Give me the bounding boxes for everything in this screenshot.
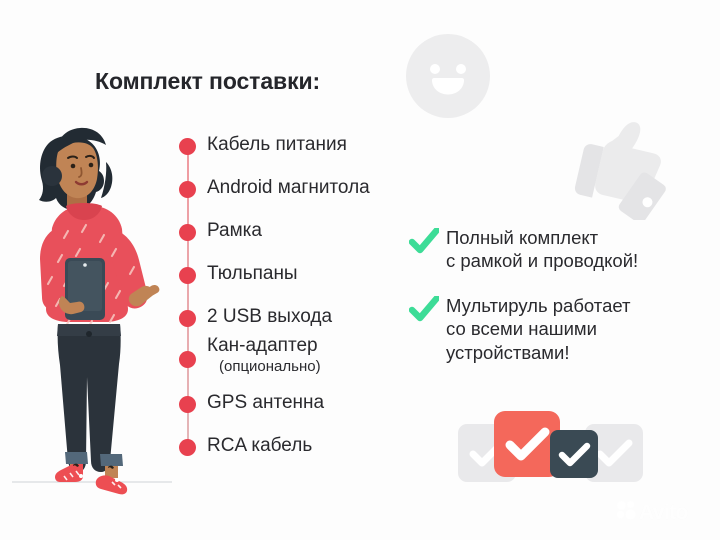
list-item-label: Кан-адаптер bbox=[207, 335, 318, 357]
checkbox-card-navy bbox=[550, 430, 598, 478]
thumbs-up-icon bbox=[572, 112, 676, 220]
green-check-icon bbox=[409, 228, 439, 256]
bullet-dot-icon bbox=[179, 138, 196, 155]
list-item-sublabel: (опционально) bbox=[219, 358, 321, 375]
benefit-text: Мультируль работает со всеми нашими устр… bbox=[446, 294, 631, 364]
list-item-label: Тюльпаны bbox=[207, 263, 298, 285]
avito-logo-icon bbox=[616, 500, 636, 525]
benefit-line-1: Мультируль работает bbox=[446, 295, 631, 316]
avito-watermark: Avito bbox=[616, 500, 688, 525]
list-item-label: RCA кабель bbox=[207, 435, 312, 457]
list-item-label: GPS антенна bbox=[207, 392, 324, 414]
benefit-text: Полный комплект с рамкой и проводкой! bbox=[446, 226, 638, 273]
woman-with-tablet-illustration bbox=[12, 110, 172, 510]
bullet-dot-icon bbox=[179, 267, 196, 284]
bullet-dot-icon bbox=[179, 181, 196, 198]
smiley-face-icon bbox=[404, 32, 492, 120]
list-item-label: Рамка bbox=[207, 220, 262, 242]
benefit-line-3: устройствами! bbox=[446, 342, 570, 363]
checkbox-card-cluster bbox=[458, 408, 643, 490]
list-item-label: 2 USB выхода bbox=[207, 306, 332, 328]
poster-canvas: Комплект поставки: Кабель питания Androi… bbox=[0, 0, 720, 540]
green-check-icon bbox=[409, 296, 439, 324]
list-item-label: Android магнитола bbox=[207, 177, 370, 199]
bullet-dot-icon bbox=[179, 224, 196, 241]
avito-wordmark: Avito bbox=[639, 501, 688, 525]
bullet-dot-icon bbox=[179, 396, 196, 413]
benefit-line-1: Полный комплект bbox=[446, 227, 598, 248]
list-item-label: Кабель питания bbox=[207, 134, 347, 156]
bullet-dot-icon bbox=[179, 351, 196, 368]
bullet-dot-icon bbox=[179, 310, 196, 327]
benefit-line-2: с рамкой и проводкой! bbox=[446, 250, 638, 271]
page-title: Комплект поставки: bbox=[95, 68, 320, 95]
bullet-dot-icon bbox=[179, 439, 196, 456]
spec-list: Кабель питания Android магнитола Рамка Т… bbox=[179, 132, 429, 462]
benefit-line-2: со всеми нашими bbox=[446, 318, 597, 339]
